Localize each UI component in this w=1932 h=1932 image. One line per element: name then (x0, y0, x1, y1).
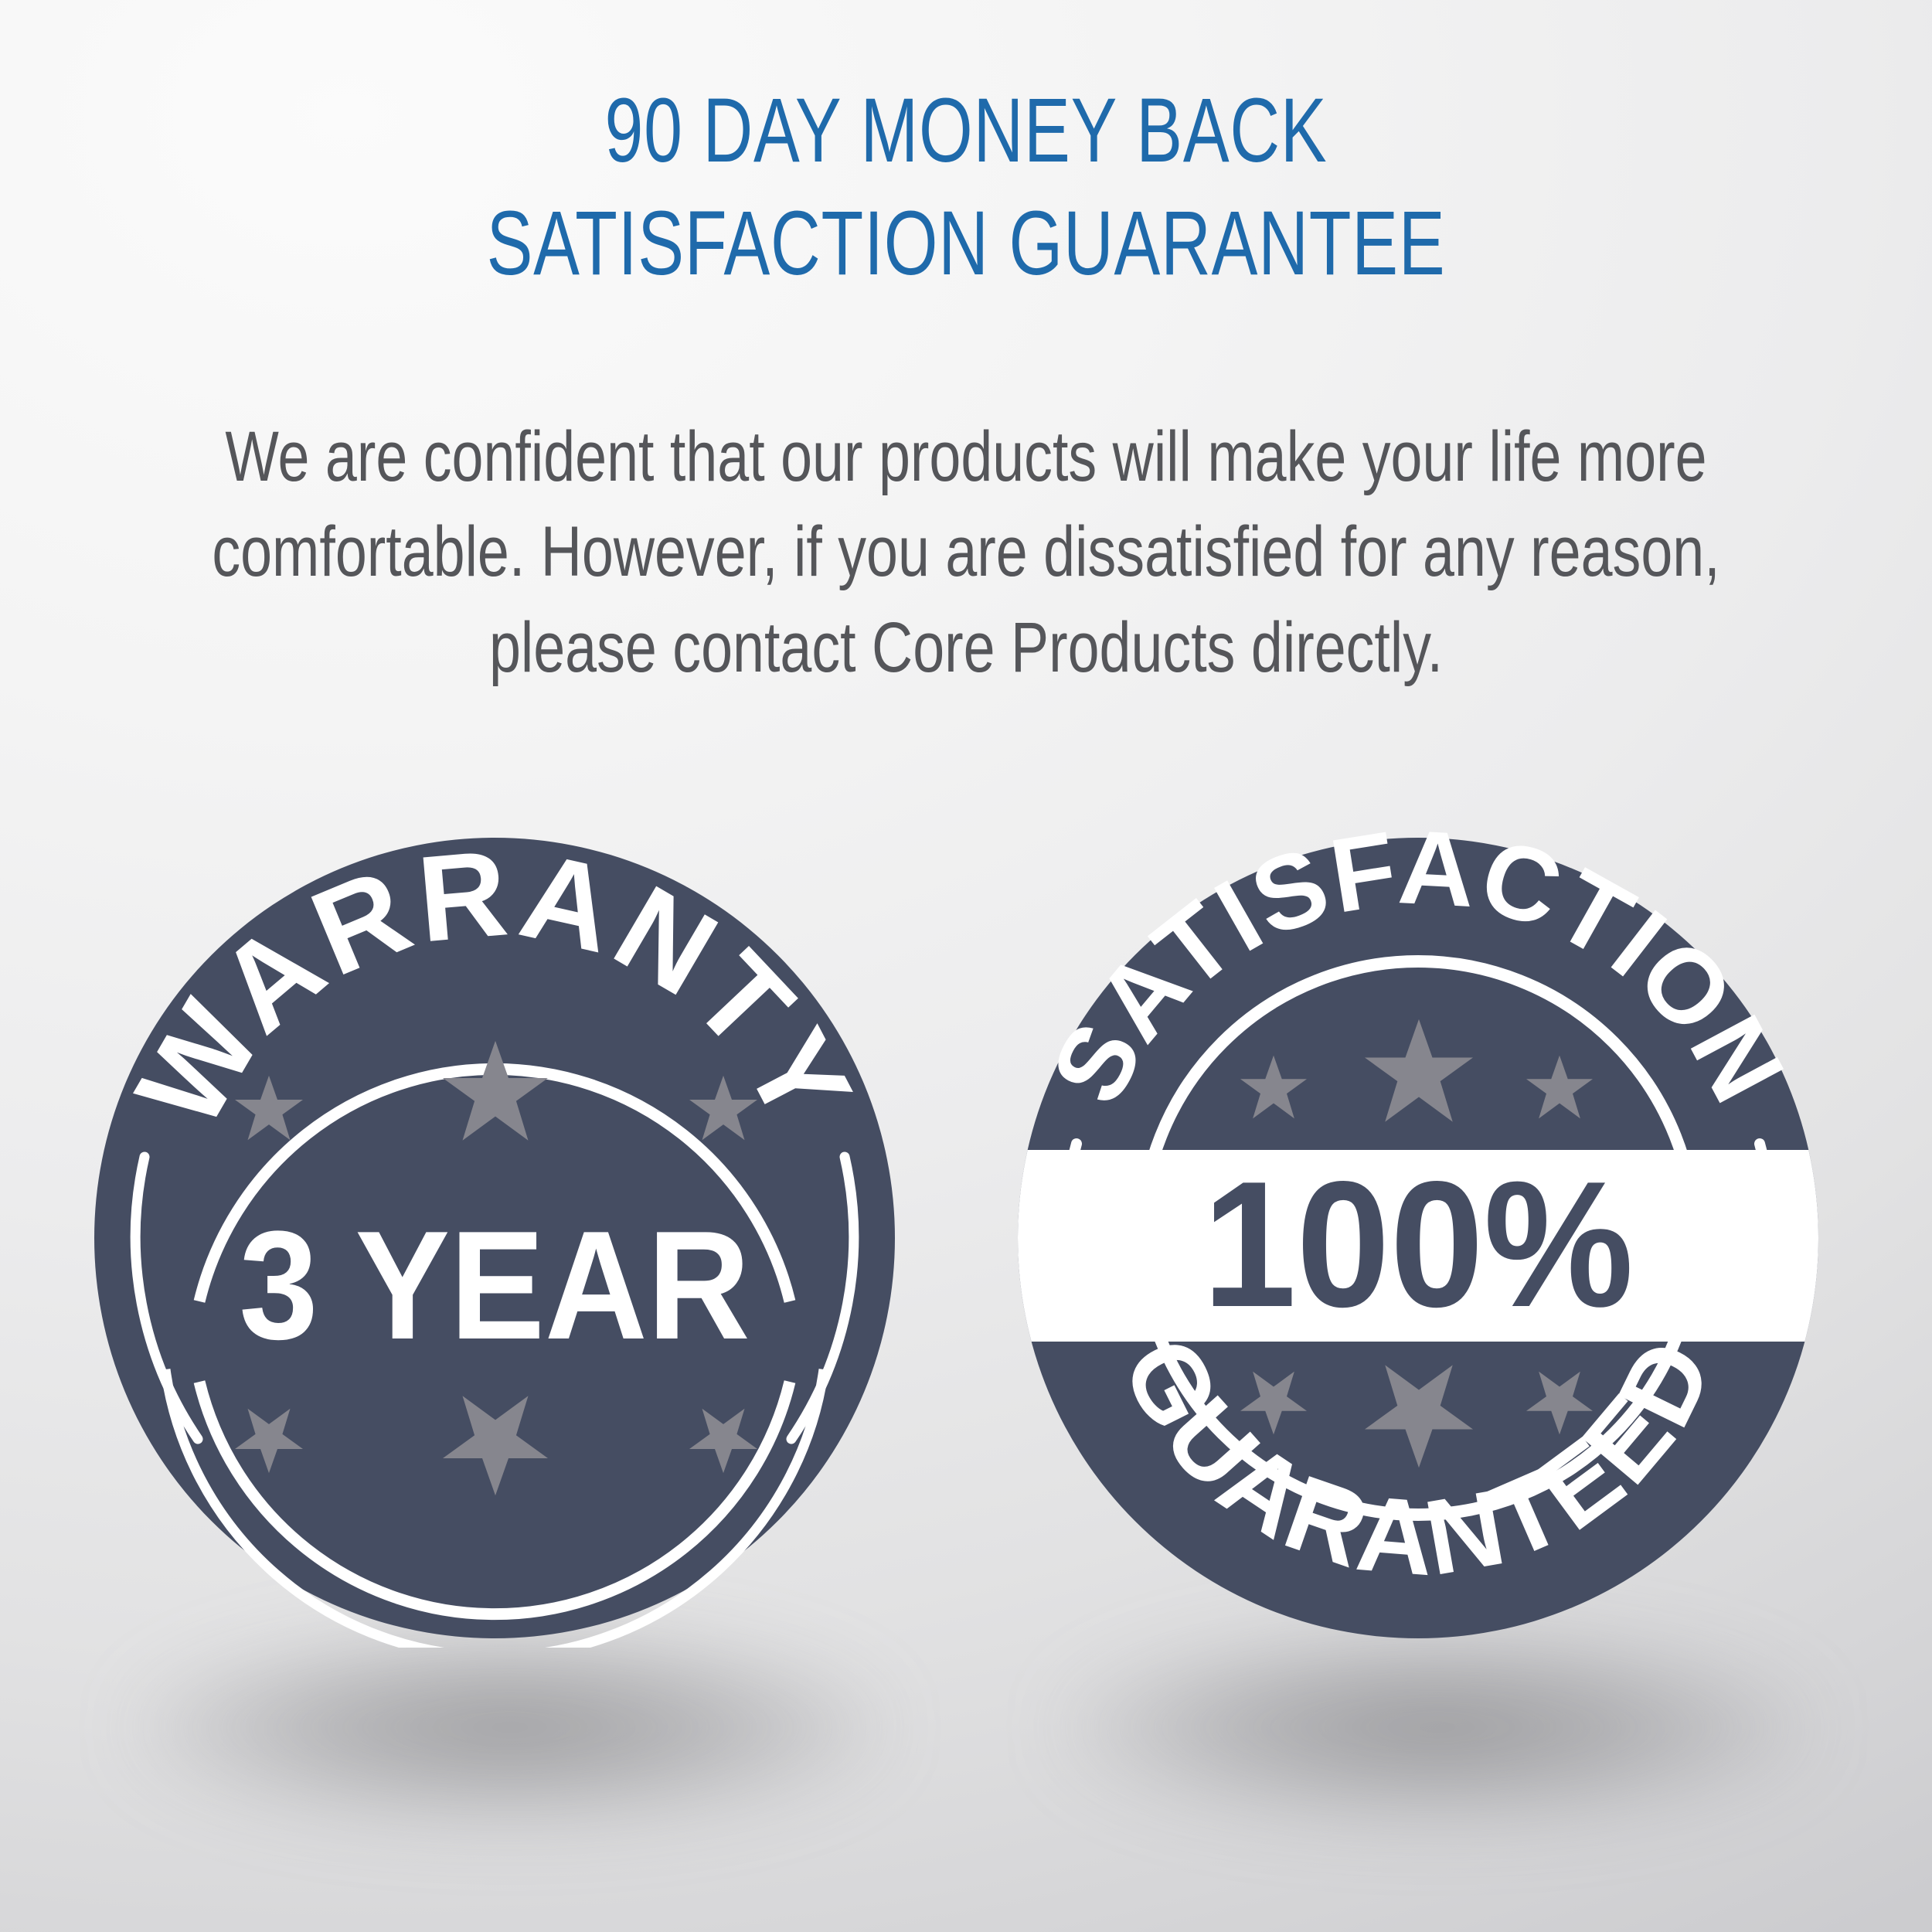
warranty-center-text: 3 YEAR (239, 1199, 750, 1372)
body-copy-line-3: please contact Core Products directly. (193, 600, 1739, 696)
satisfaction-percent-text: 100% (1202, 1144, 1634, 1345)
satisfaction-badge-shadow (1066, 1631, 1808, 1824)
body-copy-line-1: We are confident that our products will … (193, 410, 1739, 505)
page-title-line-1: 90 DAY MONEY BACK (232, 74, 1700, 187)
body-copy: We are confident that our products will … (193, 410, 1739, 696)
warranty-badge-shadow (139, 1631, 881, 1824)
page-title: 90 DAY MONEY BACK SATISFACTION GUARANTEE (232, 74, 1700, 301)
body-copy-line-2: comfortable. However, if you are dissati… (193, 505, 1739, 600)
guarantee-poster: 90 DAY MONEY BACK SATISFACTION GUARANTEE… (0, 0, 1932, 1932)
page-title-line-2: SATISFACTION GUARANTEE (232, 187, 1700, 300)
warranty-badge[interactable]: WARRANTY 3 YEAR (85, 828, 904, 1648)
satisfaction-badge[interactable]: 100% SATISFACTION GUARANTEED (1009, 828, 1828, 1648)
